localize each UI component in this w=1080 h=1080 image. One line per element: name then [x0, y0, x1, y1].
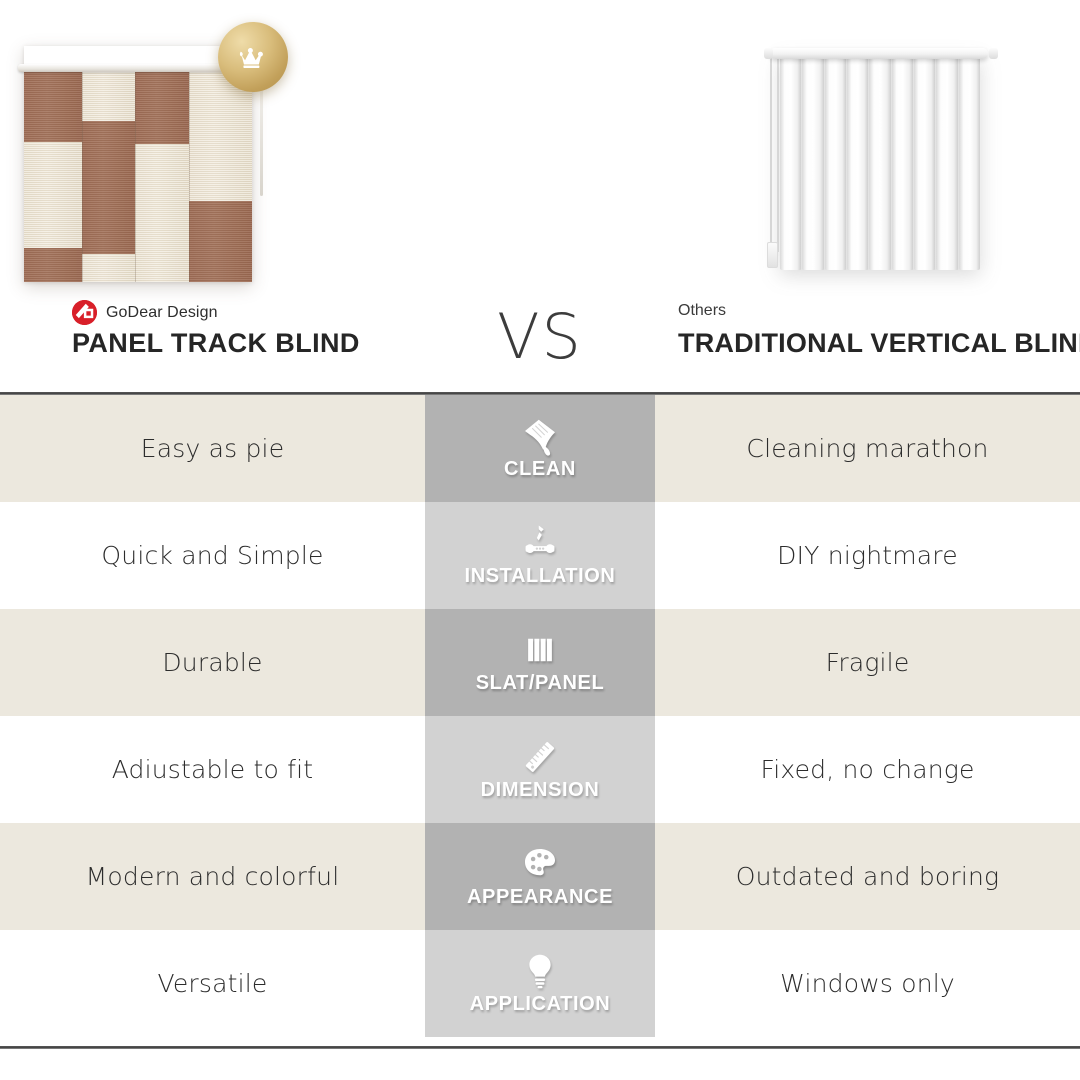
hero-center-column: VS — [430, 0, 650, 392]
panel-track-blind-image — [18, 38, 278, 288]
cell-left: Versatile — [0, 930, 425, 1037]
table-row: Modern and colorful APPEARANCE — [0, 823, 1080, 930]
headrail-cap — [989, 48, 998, 59]
table-row: Quick and Simple INST — [0, 502, 1080, 609]
comparison-infographic: GoDear Design PANEL TRACK BLIND VS — [0, 0, 1080, 1080]
category-label: CLEAN — [504, 458, 576, 481]
blind-slat — [914, 56, 936, 270]
table-row: Versatile APPLICATION Windows only — [0, 930, 1080, 1037]
cell-left: Easy as pie — [0, 395, 425, 502]
comparison-table: Easy as pie CLE — [0, 395, 1080, 1037]
cell-right: DIY nightmare — [655, 502, 1080, 609]
cell-right: Fixed, no change — [655, 716, 1080, 823]
vertical-blind-slats — [780, 56, 980, 270]
table-bottom-divider — [0, 1046, 1080, 1049]
cleaning-cloth-icon — [520, 416, 560, 456]
cell-right: Windows only — [655, 930, 1080, 1037]
cell-left: Quick and Simple — [0, 502, 425, 609]
blind-slat — [780, 56, 802, 270]
cell-category: DIMENSION — [425, 716, 655, 823]
hero-section: GoDear Design PANEL TRACK BLIND VS — [0, 0, 1080, 392]
cell-right: Outdated and boring — [655, 823, 1080, 930]
blind-slat — [847, 56, 869, 270]
cell-category: INSTALLATION — [425, 502, 655, 609]
cell-right: Fragile — [655, 609, 1080, 716]
cell-left: Adiustable to fit — [0, 716, 425, 823]
brand-name: GoDear Design — [106, 304, 218, 322]
others-label: Others — [678, 302, 726, 320]
category-label: APPLICATION — [470, 993, 611, 1016]
godear-logo-icon — [72, 300, 97, 325]
category-label: APPEARANCE — [467, 886, 613, 909]
blind-slat — [959, 56, 980, 270]
hero-right-column: Others TRADITIONAL VERTICAL BLIND — [650, 0, 1080, 392]
blind-slat — [869, 56, 891, 270]
godear-brandline: GoDear Design — [72, 300, 218, 325]
left-product-title: PANEL TRACK BLIND — [72, 328, 360, 359]
blind-panel — [135, 70, 190, 282]
category-label: DIMENSION — [481, 779, 600, 802]
cell-right: Cleaning marathon — [655, 395, 1080, 502]
control-cord — [777, 56, 779, 252]
blind-slat — [892, 56, 914, 270]
cell-category: CLEAN — [425, 395, 655, 502]
cell-category: APPEARANCE — [425, 823, 655, 930]
cell-category: SLAT/PANEL — [425, 609, 655, 716]
control-chain — [770, 56, 772, 252]
headrail-cap — [764, 48, 773, 59]
cell-category: APPLICATION — [425, 930, 655, 1037]
vertical-blind-image — [758, 44, 1008, 294]
paint-palette-icon — [520, 844, 560, 884]
category-label: INSTALLATION — [465, 565, 616, 588]
cell-left: Durable — [0, 609, 425, 716]
panel-track-panels — [24, 70, 252, 282]
light-bulb-icon — [520, 951, 560, 991]
blind-panel — [189, 70, 252, 282]
table-row: Easy as pie CLE — [0, 395, 1080, 502]
vertical-blind-headrail — [770, 48, 988, 59]
panel-slats-icon — [520, 630, 560, 670]
ruler-icon — [520, 737, 560, 777]
wrench-screw-icon — [520, 523, 560, 563]
category-label: SLAT/PANEL — [476, 672, 605, 695]
cell-left: Modern and colorful — [0, 823, 425, 930]
blind-slat — [825, 56, 847, 270]
right-product-title: TRADITIONAL VERTICAL BLIND — [678, 328, 1080, 359]
hero-left-column: GoDear Design PANEL TRACK BLIND — [0, 0, 430, 392]
blind-panel — [82, 70, 134, 282]
blind-slat — [936, 56, 958, 270]
crown-icon — [218, 22, 288, 92]
blind-slat — [802, 56, 824, 270]
vs-label: VS — [430, 300, 650, 373]
table-row: Durable SLAT/PANEL Fragile — [0, 609, 1080, 716]
table-row: Adiustable to fit — [0, 716, 1080, 823]
cord-weight — [767, 242, 778, 268]
blind-panel — [24, 70, 82, 282]
